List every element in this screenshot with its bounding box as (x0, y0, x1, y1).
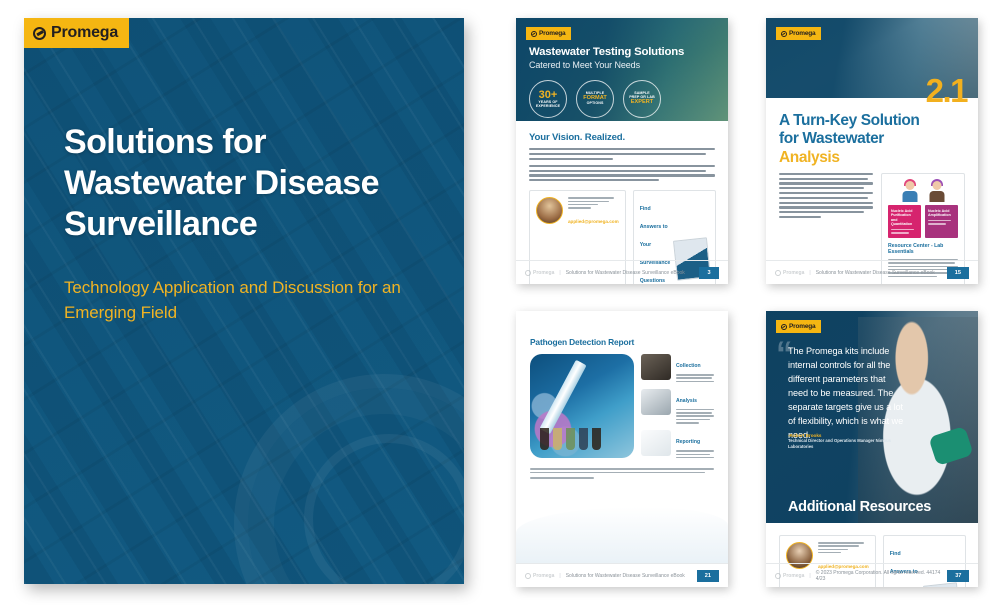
footer-separator: | (559, 573, 560, 579)
p1-hero-title: Wastewater Testing Solutions (529, 46, 715, 58)
p1-paragraph-2 (529, 165, 715, 182)
p2-mini-card-1[interactable]: Nucleic Acid Purification and Quantitati… (888, 205, 921, 238)
avatar (536, 197, 563, 224)
page-thumbnail-2[interactable]: Promega 2.1 A Turn-Key Solution for Wast… (766, 18, 978, 284)
p1-heading: Your Vision. Realized. (529, 132, 715, 143)
footer-separator: | (559, 270, 560, 276)
p3-step-collection-text: Collection (676, 354, 714, 384)
p4-attribution-role: Technical Director and Operations Manage… (788, 438, 908, 450)
p4-quote-text: The Promega kits include internal contro… (788, 345, 906, 443)
p3-step-collection: Collection (641, 354, 714, 384)
promega-logo-text: Promega (789, 30, 815, 37)
p4-attribution: -Robert Brooks Technical Director and Op… (788, 433, 908, 450)
p3-step-analysis-text: Analysis (676, 389, 714, 425)
p1-page-number: 3 (699, 267, 719, 279)
p1-badge-expert: SAMPLE PREP OR LAB EXPERT (623, 80, 661, 118)
p2-panel-heading: Resource Center - Lab Essentials (888, 243, 958, 257)
p2-title: A Turn-Key Solution for Wastewater Analy… (779, 112, 965, 167)
promega-logo-icon (531, 31, 537, 37)
p4-promega-logo-badge: Promega (776, 320, 821, 333)
p1-contact-email[interactable]: applied@promega.com (568, 219, 619, 224)
p3-footer-text: Solutions for Wastewater Disease Surveil… (566, 573, 685, 579)
p3-heading: Pathogen Detection Report (530, 337, 714, 347)
p2-page-number: 15 (947, 267, 969, 279)
cover-subtitle: Technology Application and Discussion fo… (64, 276, 434, 324)
ebook-cover[interactable]: Promega Solutions for Wastewater Disease… (24, 18, 464, 584)
p3-wave-decoration (516, 507, 728, 563)
p3-content-row: Collection Analysis (530, 354, 714, 460)
p1-footer-logo: Promega (525, 270, 554, 276)
cover-text-block: Solutions for Wastewater Disease Surveil… (64, 122, 434, 325)
promega-logo-text: Promega (539, 30, 565, 37)
p2-illustration-people (888, 180, 958, 202)
p1-promega-logo-badge: Promega (526, 27, 571, 40)
p3-caption (530, 468, 714, 478)
p2-mini-card-row: Nucleic Acid Purification and Quantitati… (888, 205, 958, 238)
p2-mini-card-2[interactable]: Nucleic Acid Amplification (925, 205, 958, 238)
promega-logo-icon (525, 573, 531, 579)
promega-logo-icon (781, 31, 787, 37)
p4-footer-brand: Promega (783, 573, 804, 579)
promega-logo-icon (33, 27, 46, 40)
p1-badge-row: 30+ YEARS OF EXPERIENCE MULTIPLE FORMAT … (529, 80, 715, 118)
p1-footer-brand: Promega (533, 270, 554, 276)
p3-step-reporting: Reporting (641, 430, 714, 460)
p2-section-number: 2.1 (926, 74, 967, 107)
p3-footer-logo: Promega (525, 573, 554, 579)
p3-step-reporting-label: Reporting (676, 439, 700, 445)
footer-separator: | (809, 573, 810, 579)
p1-badge-years-label: YEARS OF EXPERIENCE (530, 101, 566, 108)
promega-logo-icon (775, 270, 781, 276)
p2-footer-logo: Promega (775, 270, 804, 276)
sample-tubes-icon (540, 428, 601, 450)
reporting-photo (641, 430, 671, 456)
person-figure-icon (926, 180, 948, 202)
p3-step-reporting-text: Reporting (676, 430, 714, 460)
p2-title-line2: for Wastewater (779, 130, 884, 147)
p3-footer: Promega | Solutions for Wastewater Disea… (516, 563, 728, 587)
p3-hero-image (530, 354, 634, 458)
p3-step-analysis: Analysis (641, 389, 714, 425)
person-figure-icon (899, 180, 921, 202)
promega-logo-text: Promega (51, 24, 118, 42)
p3-footer-brand: Promega (533, 573, 554, 579)
p4-page-number: 37 (947, 570, 969, 582)
promega-logo-icon (775, 573, 781, 579)
promega-logo-badge: Promega (24, 18, 129, 48)
p2-mini-card-2-label: Nucleic Acid Amplification (928, 209, 955, 218)
p1-paragraph-1 (529, 148, 715, 160)
p3-page-number: 21 (697, 570, 719, 582)
p1-footer: Promega | Solutions for Wastewater Disea… (516, 260, 728, 284)
p1-badge-format-line3: OPTIONS (587, 102, 604, 106)
p2-title-line1: A Turn-Key Solution (779, 112, 920, 129)
analysis-photo (641, 389, 671, 415)
p1-badge-years: 30+ YEARS OF EXPERIENCE (529, 80, 567, 118)
page-thumbnail-3[interactable]: Pathogen Detection Report Collection (516, 311, 728, 587)
p2-body: A Turn-Key Solution for Wastewater Analy… (766, 98, 978, 284)
p2-promega-logo-badge: Promega (776, 27, 821, 40)
p2-footer-brand: Promega (783, 270, 804, 276)
p4-footer-text: © 2023 Promega Corporation. All rights r… (816, 570, 942, 582)
p2-title-line3: Analysis (779, 149, 840, 166)
p3-body: Pathogen Detection Report Collection (516, 311, 728, 479)
promega-logo-icon (525, 270, 531, 276)
p4-section-title: Additional Resources (788, 499, 931, 515)
pipette-icon (539, 360, 586, 435)
p3-step-analysis-label: Analysis (676, 398, 697, 404)
promega-logo-icon (781, 324, 787, 330)
p3-step-collection-label: Collection (676, 363, 701, 369)
p4-footer-logo: Promega (775, 573, 804, 579)
p1-badge-expert-line3: EXPERT (631, 100, 653, 106)
p2-footer-text: Solutions for Wastewater Disease Surveil… (816, 270, 935, 276)
p1-footer-text: Solutions for Wastewater Disease Surveil… (566, 270, 685, 276)
p3-step-list: Collection Analysis (641, 354, 714, 460)
p1-badge-format: MULTIPLE FORMAT OPTIONS (576, 80, 614, 118)
p1-hero-subtitle: Catered to Meet Your Needs (529, 60, 715, 70)
page-thumbnail-4[interactable]: Promega “ The Promega kits include inter… (766, 311, 978, 587)
cover-title: Solutions for Wastewater Disease Surveil… (64, 122, 434, 244)
page-thumbnail-1[interactable]: Promega Wastewater Testing Solutions Cat… (516, 18, 728, 284)
promega-logo-text: Promega (789, 323, 815, 330)
p4-quote-hero: Promega “ The Promega kits include inter… (766, 311, 978, 523)
ebook-preview-stage: Promega Solutions for Wastewater Disease… (0, 0, 1000, 605)
gloved-hand (928, 426, 973, 466)
collection-photo (641, 354, 671, 380)
p1-hero: Promega Wastewater Testing Solutions Cat… (516, 18, 728, 121)
p2-hero: Promega 2.1 (766, 18, 978, 98)
p2-mini-card-1-label: Nucleic Acid Purification and Quantitati… (891, 209, 918, 227)
p4-footer: Promega | © 2023 Promega Corporation. Al… (766, 563, 978, 587)
p2-footer: Promega | Solutions for Wastewater Disea… (766, 260, 978, 284)
footer-separator: | (809, 270, 810, 276)
